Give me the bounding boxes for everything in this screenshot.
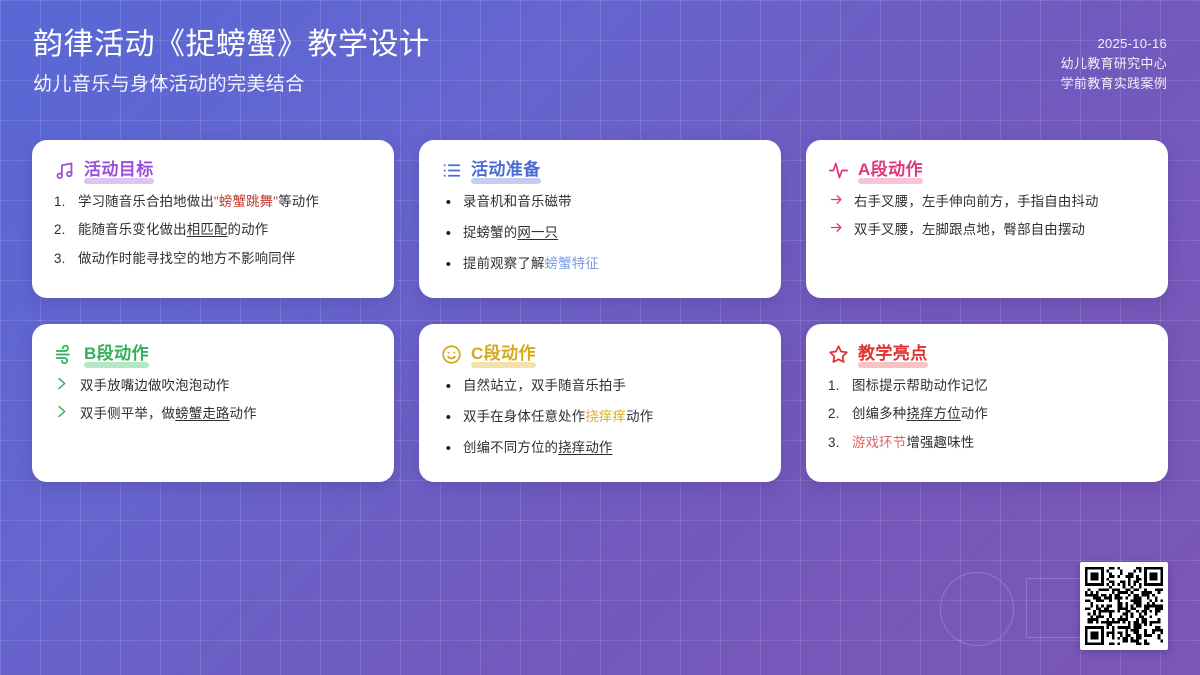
list-item: •录音机和音乐磁带: [441, 192, 759, 214]
list-bullet-chevron: [54, 404, 73, 419]
list-item-text: 双手放嘴边做吹泡泡动作: [80, 376, 372, 395]
card-header: C段动作: [441, 344, 759, 365]
list-item: 右手叉腰，左手伸向前方，手指自由抖动: [828, 192, 1146, 211]
list-item-text: 录音机和音乐磁带: [463, 192, 759, 211]
text-pre: 双手侧平举，做: [80, 406, 175, 421]
card-title: 教学亮点: [858, 344, 928, 363]
card-list: 右手叉腰，左手伸向前方，手指自由抖动双手叉腰，左脚跟点地，臀部自由摆动: [828, 192, 1146, 240]
card-title: 活动准备: [471, 160, 541, 179]
card-title: A段动作: [858, 160, 923, 179]
list-item: •自然站立，双手随音乐拍手: [441, 376, 759, 398]
text-highlight: "螃蟹跳舞": [214, 194, 278, 209]
card-header: A段动作: [828, 160, 1146, 181]
meta-organization: 幼儿教育研究中心: [1061, 54, 1167, 74]
card-grid: 活动目标1.学习随音乐合拍地做出"螃蟹跳舞"等动作2.能随音乐变化做出相匹配的动…: [32, 140, 1168, 482]
list-bullet-ordered: 2.: [54, 220, 71, 239]
title-block: 韵律活动《捉螃蟹》教学设计 幼儿音乐与身体活动的完美结合: [33, 26, 430, 96]
text-pre: 双手放嘴边做吹泡泡动作: [80, 378, 230, 393]
text-pre: 双手叉腰，左脚跟点地，臀部自由摆动: [854, 222, 1085, 237]
list-item: •捉螃蟹的网一只: [441, 223, 759, 245]
text-pre: 提前观察了解: [463, 256, 545, 271]
text-pre: 能随音乐变化做出: [78, 222, 187, 237]
qr-code[interactable]: [1080, 562, 1168, 650]
list-item: 3.做动作时能寻找空的地方不影响同伴: [54, 249, 372, 268]
text-post: 增强趣味性: [906, 435, 974, 450]
list-item: •创编不同方位的挠痒动作: [441, 438, 759, 460]
text-highlight: 螃蟹特征: [545, 256, 599, 271]
list-bullet-arrow: [828, 192, 847, 207]
list-item: •提前观察了解螃蟹特征: [441, 254, 759, 276]
text-post: 动作: [626, 409, 653, 424]
list-item-text: 捉螃蟹的网一只: [463, 223, 759, 242]
list-item-text: 双手叉腰，左脚跟点地，臀部自由摆动: [854, 220, 1146, 239]
list-bullet-dot: •: [441, 438, 456, 460]
list-item: 1.图标提示帮助动作记忆: [828, 376, 1146, 395]
list-item: 2.能随音乐变化做出相匹配的动作: [54, 220, 372, 239]
list-item: 3.游戏环节增强趣味性: [828, 433, 1146, 452]
text-pre: 创编不同方位的: [463, 440, 558, 455]
card-list: •自然站立，双手随音乐拍手•双手在身体任意处作挠痒痒动作•创编不同方位的挠痒动作: [441, 376, 759, 459]
text-highlight: 相匹配: [187, 222, 228, 237]
list-bullet-ordered: 1.: [54, 192, 71, 211]
text-pre: 创编多种: [852, 406, 906, 421]
text-post: 动作: [961, 406, 988, 421]
pulse-icon: [828, 160, 849, 181]
text-pre: 双手在身体任意处作: [463, 409, 585, 424]
card-header: 活动准备: [441, 160, 759, 181]
card-section-c-moves: C段动作•自然站立，双手随音乐拍手•双手在身体任意处作挠痒痒动作•创编不同方位的…: [419, 324, 781, 482]
list-item-text: 自然站立，双手随音乐拍手: [463, 376, 759, 395]
text-post: 动作: [230, 406, 257, 421]
list-item: 双手叉腰，左脚跟点地，臀部自由摆动: [828, 220, 1146, 239]
text-post: 等动作: [278, 194, 319, 209]
list-bullet-dot: •: [441, 376, 456, 398]
card-title: 活动目标: [84, 160, 154, 179]
card-section-b-moves: B段动作双手放嘴边做吹泡泡动作双手侧平举，做螃蟹走路动作: [32, 324, 394, 482]
text-highlight: 挠痒痒: [585, 409, 626, 424]
qr-code-image: [1085, 567, 1163, 645]
text-highlight: 网一只: [517, 225, 558, 240]
list-item-text: 双手侧平举，做螃蟹走路动作: [80, 404, 372, 423]
text-pre: 右手叉腰，左手伸向前方，手指自由抖动: [854, 194, 1099, 209]
text-pre: 图标提示帮助动作记忆: [852, 378, 988, 393]
list-item-text: 创编多种挠痒方位动作: [852, 404, 1146, 423]
list-bullet-ordered: 2.: [828, 404, 845, 423]
card-title: B段动作: [84, 344, 149, 363]
card-header: 活动目标: [54, 160, 372, 181]
slide-header: 韵律活动《捉螃蟹》教学设计 幼儿音乐与身体活动的完美结合 2025-10-16 …: [0, 0, 1200, 125]
text-pre: 学习随音乐合拍地做出: [78, 194, 214, 209]
card-title: C段动作: [471, 344, 536, 363]
card-title-wrap: 教学亮点: [858, 344, 928, 364]
list-item-text: 学习随音乐合拍地做出"螃蟹跳舞"等动作: [78, 192, 372, 211]
smiley-icon: [441, 344, 462, 365]
list-bullet-dot: •: [441, 223, 456, 245]
card-title-wrap: 活动目标: [84, 160, 154, 180]
card-title-wrap: C段动作: [471, 344, 536, 364]
card-list: •录音机和音乐磁带•捉螃蟹的网一只•提前观察了解螃蟹特征: [441, 192, 759, 275]
text-pre: 做动作时能寻找空的地方不影响同伴: [78, 251, 295, 266]
text-pre: 录音机和音乐磁带: [463, 194, 572, 209]
card-title-wrap: 活动准备: [471, 160, 541, 180]
card-title-wrap: B段动作: [84, 344, 149, 364]
list-item-text: 能随音乐变化做出相匹配的动作: [78, 220, 372, 239]
text-highlight: 游戏环节: [852, 435, 906, 450]
list-bullet-ordered: 1.: [828, 376, 845, 395]
slide-root: 韵律活动《捉螃蟹》教学设计 幼儿音乐与身体活动的完美结合 2025-10-16 …: [0, 0, 1200, 675]
list-item-text: 图标提示帮助动作记忆: [852, 376, 1146, 395]
list-item-text: 右手叉腰，左手伸向前方，手指自由抖动: [854, 192, 1146, 211]
text-highlight: 挠痒方位: [906, 406, 960, 421]
card-activity-preparation: 活动准备•录音机和音乐磁带•捉螃蟹的网一只•提前观察了解螃蟹特征: [419, 140, 781, 298]
list-item: 1.学习随音乐合拍地做出"螃蟹跳舞"等动作: [54, 192, 372, 211]
text-pre: 自然站立，双手随音乐拍手: [463, 378, 626, 393]
list-icon: [441, 160, 462, 181]
list-item-text: 游戏环节增强趣味性: [852, 433, 1146, 452]
music-note-icon: [54, 160, 75, 181]
text-post: 的动作: [228, 222, 269, 237]
list-item-text: 做动作时能寻找空的地方不影响同伴: [78, 249, 372, 268]
list-item: 双手放嘴边做吹泡泡动作: [54, 376, 372, 395]
list-item-text: 创编不同方位的挠痒动作: [463, 438, 759, 457]
list-item: •双手在身体任意处作挠痒痒动作: [441, 407, 759, 429]
list-bullet-dot: •: [441, 192, 456, 214]
text-pre: 捉螃蟹的: [463, 225, 517, 240]
wind-icon: [54, 344, 75, 365]
list-bullet-dot: •: [441, 407, 456, 429]
list-item: 双手侧平举，做螃蟹走路动作: [54, 404, 372, 423]
list-bullet-dot: •: [441, 254, 456, 276]
card-title-wrap: A段动作: [858, 160, 923, 180]
star-icon: [828, 344, 849, 365]
card-header: B段动作: [54, 344, 372, 365]
deco-square-outline: [1026, 578, 1086, 638]
card-section-a-moves: A段动作右手叉腰，左手伸向前方，手指自由抖动双手叉腰，左脚跟点地，臀部自由摆动: [806, 140, 1168, 298]
page-title: 韵律活动《捉螃蟹》教学设计: [33, 26, 430, 64]
list-bullet-ordered: 3.: [828, 433, 845, 452]
list-bullet-ordered: 3.: [54, 249, 71, 268]
page-subtitle: 幼儿音乐与身体活动的完美结合: [33, 69, 430, 96]
header-meta: 2025-10-16 幼儿教育研究中心 学前教育实践案例: [1061, 34, 1167, 93]
meta-category: 学前教育实践案例: [1061, 74, 1167, 94]
text-highlight: 螃蟹走路: [175, 406, 229, 421]
card-header: 教学亮点: [828, 344, 1146, 365]
list-bullet-chevron: [54, 376, 73, 391]
list-item-text: 双手在身体任意处作挠痒痒动作: [463, 407, 759, 426]
card-list: 1.图标提示帮助动作记忆2.创编多种挠痒方位动作3.游戏环节增强趣味性: [828, 376, 1146, 452]
card-list: 双手放嘴边做吹泡泡动作双手侧平举，做螃蟹走路动作: [54, 376, 372, 424]
list-bullet-arrow: [828, 220, 847, 235]
card-list: 1.学习随音乐合拍地做出"螃蟹跳舞"等动作2.能随音乐变化做出相匹配的动作3.做…: [54, 192, 372, 268]
deco-circle-outline: [940, 572, 1014, 646]
list-item: 2.创编多种挠痒方位动作: [828, 404, 1146, 423]
card-teaching-highlights: 教学亮点1.图标提示帮助动作记忆2.创编多种挠痒方位动作3.游戏环节增强趣味性: [806, 324, 1168, 482]
list-item-text: 提前观察了解螃蟹特征: [463, 254, 759, 273]
text-highlight: 挠痒动作: [558, 440, 612, 455]
card-activity-goals: 活动目标1.学习随音乐合拍地做出"螃蟹跳舞"等动作2.能随音乐变化做出相匹配的动…: [32, 140, 394, 298]
meta-date: 2025-10-16: [1061, 34, 1167, 54]
